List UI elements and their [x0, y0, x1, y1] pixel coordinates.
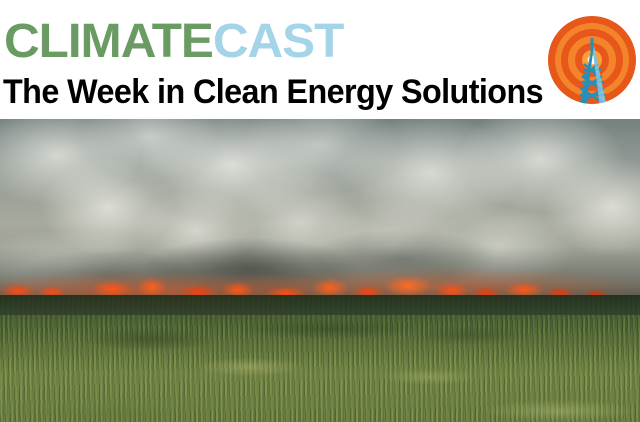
- photo-haze-overlay: [0, 119, 640, 422]
- wildfire-photo: [0, 119, 640, 422]
- tagline: The Week in Clean Energy Solutions: [3, 72, 543, 112]
- wordmark-climate: Climate: [4, 0, 213, 72]
- masthead: ClimateCast The Week in Clean Energy Sol…: [0, 0, 640, 119]
- broadcast-tower-icon: [546, 8, 638, 112]
- wordmark-cast: Cast: [213, 0, 343, 72]
- wordmark-climatecast: ClimateCast: [4, 0, 343, 72]
- climatecast-newsletter-header: ClimateCast The Week in Clean Energy Sol…: [0, 0, 640, 422]
